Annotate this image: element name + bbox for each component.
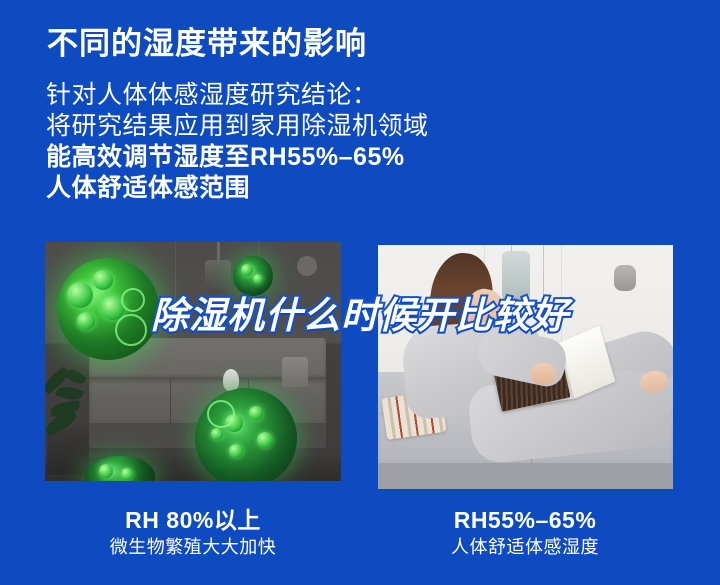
photo-row	[0, 238, 720, 494]
page-title: 不同的湿度带来的影响	[47, 18, 367, 63]
poster-root: 不同的湿度带来的影响 针对人体体感湿度研究结论： 将研究结果应用到家用除湿机领域…	[0, 0, 720, 585]
intro-line-1: 针对人体体感湿度研究结论：	[46, 80, 646, 111]
caption-right-subtitle: 人体舒适体感湿度	[372, 534, 678, 560]
woman-hand	[530, 363, 556, 385]
sofa-base	[378, 463, 673, 489]
overlay-title: 除湿机什么时候开比较好	[151, 285, 569, 339]
caption-right: RH55%–65% 人体舒适体感湿度	[372, 506, 678, 560]
caption-right-title: RH55%–65%	[372, 506, 678, 534]
light-room-scene	[378, 245, 673, 489]
left-photo	[45, 242, 341, 481]
right-photo	[378, 245, 673, 489]
caption-left-subtitle: 微生物繁殖大大加快	[40, 534, 346, 560]
caption-left: RH 80%以上 微生物繁殖大大加快	[40, 506, 346, 560]
plant-leaf	[63, 366, 87, 387]
dark-pillow	[282, 357, 308, 387]
decor-vase	[223, 369, 239, 391]
intro-line-4: 人体舒适体感范围	[46, 173, 646, 204]
caption-row: RH 80%以上 微生物繁殖大大加快 RH55%–65% 人体舒适体感湿度	[0, 506, 720, 580]
plant-leaf	[56, 384, 84, 403]
wall-speaker-icon	[614, 265, 636, 291]
wall-speaker-icon	[297, 256, 317, 276]
dark-room-scene	[45, 242, 341, 481]
intro-line-2: 将研究结果应用到家用除湿机领域	[46, 111, 646, 142]
cushion-seam	[170, 379, 171, 423]
caption-left-title: RH 80%以上	[40, 506, 346, 534]
microbe-sphere	[195, 388, 297, 481]
intro-block: 针对人体体感湿度研究结论： 将研究结果应用到家用除湿机领域 能高效调节湿度至RH…	[46, 80, 646, 204]
microbe-sphere	[57, 258, 159, 360]
intro-line-3: 能高效调节湿度至RH55%–65%	[46, 142, 646, 173]
